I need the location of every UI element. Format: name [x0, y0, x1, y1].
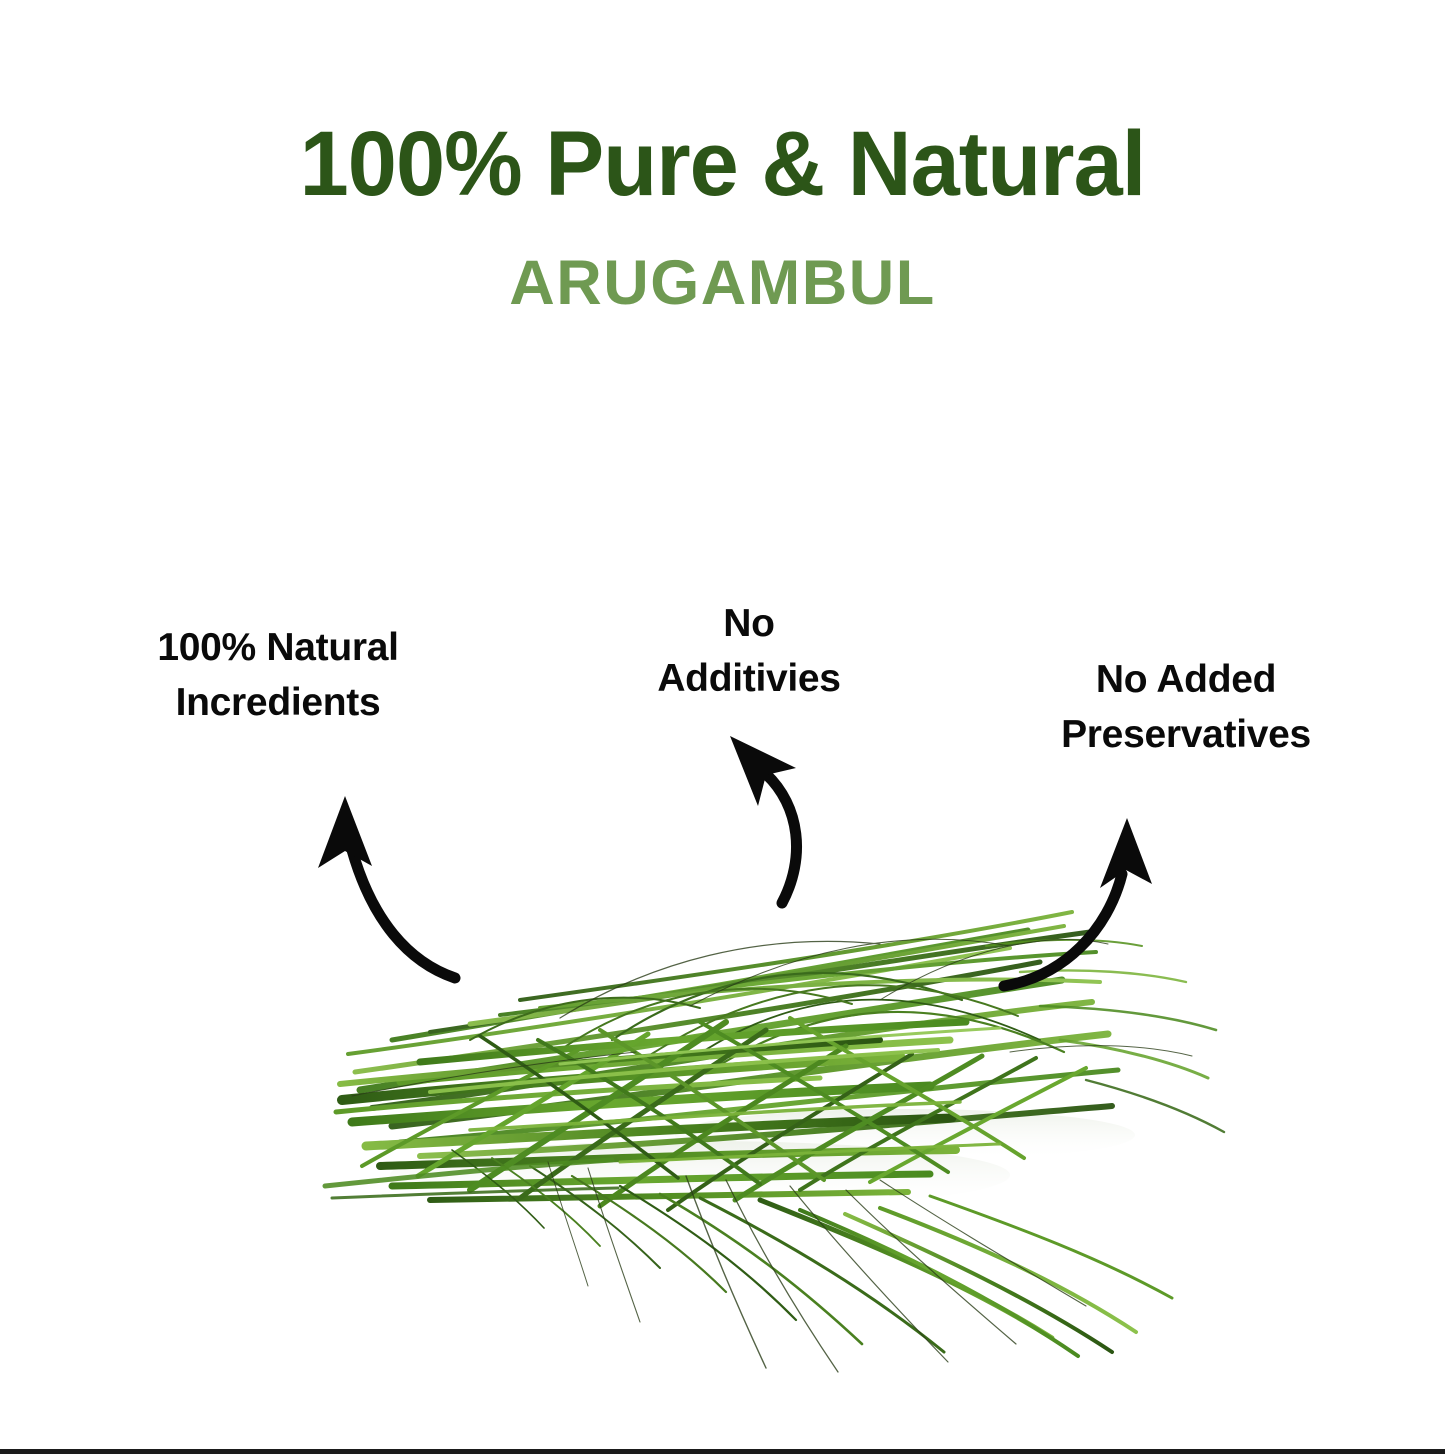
callout-no-added-preservatives: No Added Preservatives	[1026, 652, 1346, 763]
callout-natural-ingredients: 100% Natural Incredients	[108, 620, 448, 731]
infographic-canvas: 100% Pure & Natural ARUGAMBUL	[0, 0, 1445, 1454]
bottom-edge-rule	[0, 1449, 1445, 1454]
callout-no-additives: No Additivies	[618, 596, 880, 707]
